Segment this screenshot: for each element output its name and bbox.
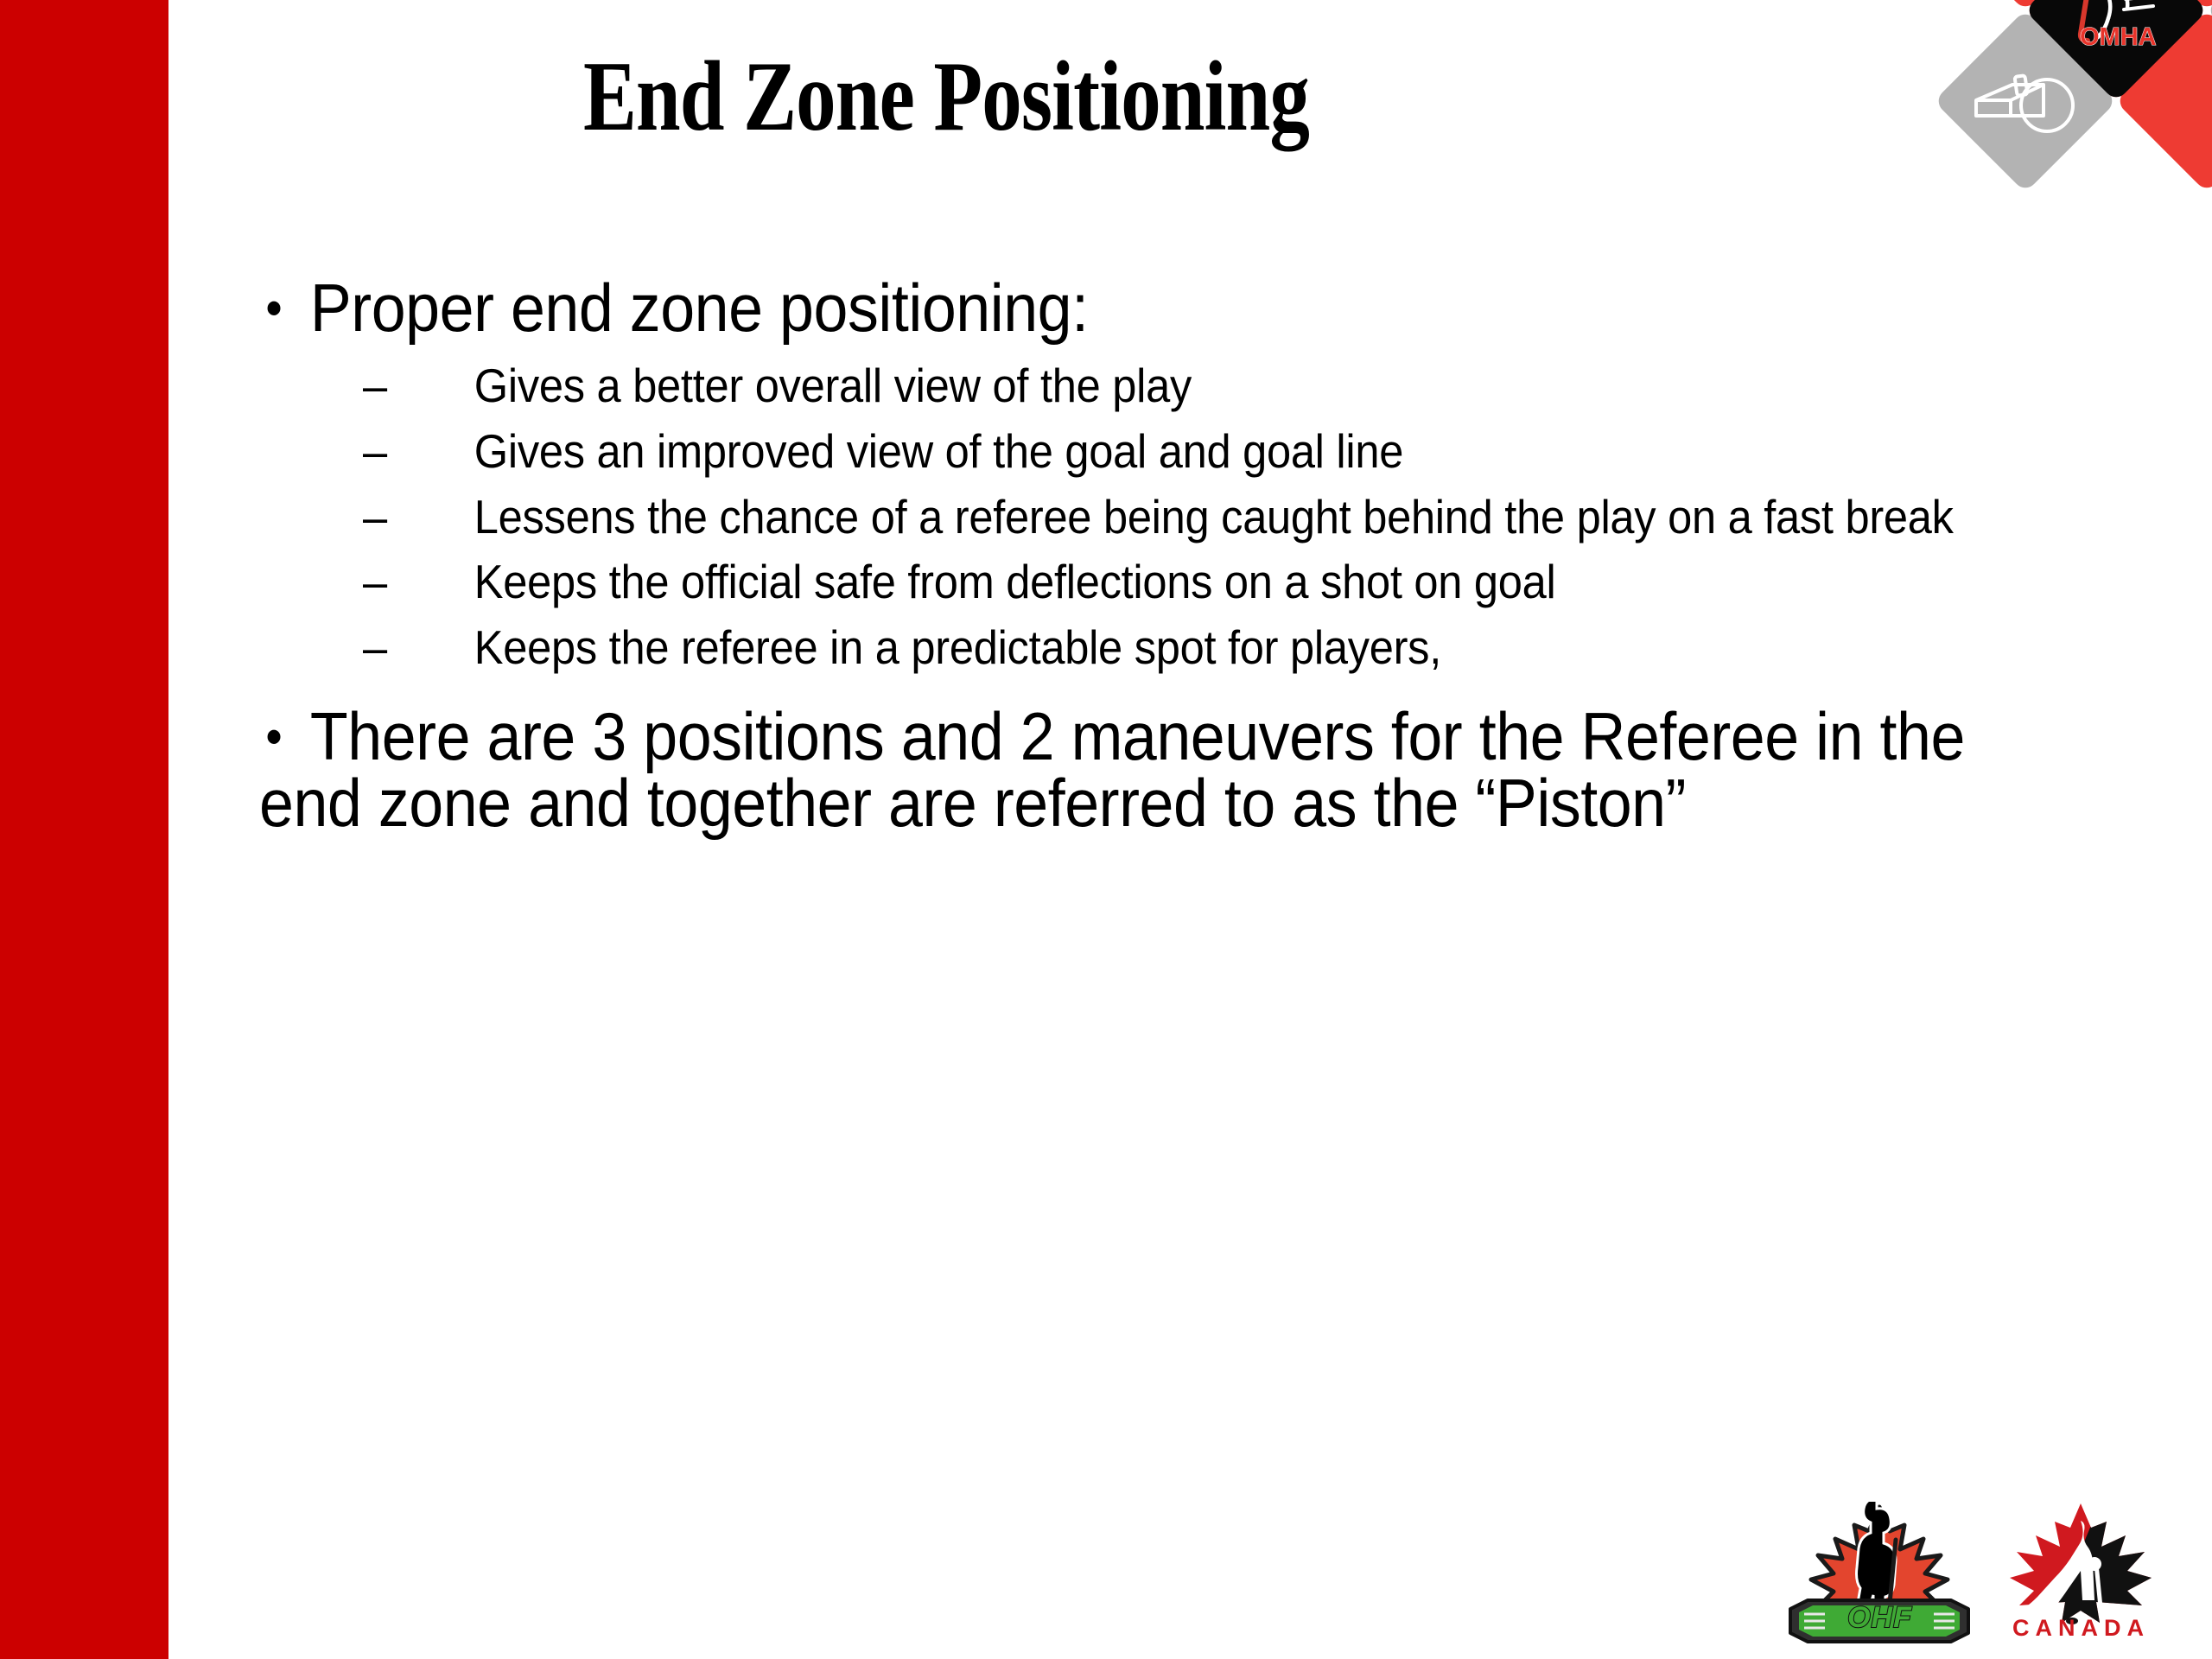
sub-bullet-item: –Gives an improved view of the goal and … bbox=[363, 425, 2017, 479]
sub-bullet-text: Lessens the chance of a referee being ca… bbox=[474, 490, 1954, 543]
sub-bullet-item: –Lessens the chance of a referee being c… bbox=[363, 491, 2017, 544]
sub-bullet-text: Keeps the referee in a predictable spot … bbox=[474, 620, 1441, 674]
slide-canvas: End Zone Positioning •Proper end zone po… bbox=[0, 0, 2212, 1659]
sub-bullet-text: Keeps the official safe from deflections… bbox=[474, 555, 1556, 608]
ohf-logo: OHF bbox=[1787, 1502, 1973, 1657]
omha-wordmark: OMHA bbox=[2080, 23, 2157, 52]
hockey-canada-logo: CANADA bbox=[1984, 1502, 2178, 1657]
sub-bullet-item: –Keeps the official safe from deflection… bbox=[363, 556, 2017, 609]
bullet-marker-icon: • bbox=[265, 283, 310, 334]
bullet-marker-icon: • bbox=[265, 712, 310, 763]
partner-logos: OHF bbox=[1787, 1502, 2193, 1657]
ohf-wordmark: OHF bbox=[1787, 1601, 1973, 1635]
bullet-item: •There are 3 positions and 2 maneuvers f… bbox=[259, 703, 2008, 836]
bullet-text: Proper end zone positioning: bbox=[310, 270, 1089, 346]
sub-bullet-marker-icon: – bbox=[363, 491, 474, 544]
slide-body: •Proper end zone positioning: –Gives a b… bbox=[259, 275, 2160, 836]
sub-bullet-item: –Keeps the referee in a predictable spot… bbox=[363, 621, 2017, 675]
sub-bullet-marker-icon: – bbox=[363, 621, 474, 675]
sub-bullet-marker-icon: – bbox=[363, 425, 474, 479]
sub-bullet-marker-icon: – bbox=[363, 556, 474, 609]
bullet-text: There are 3 positions and 2 maneuvers fo… bbox=[259, 698, 1965, 840]
omha-diamond-logo: OMHA bbox=[1913, 0, 2212, 278]
page-title: End Zone Positioning bbox=[324, 45, 1568, 150]
canada-wordmark: CANADA bbox=[1984, 1615, 2178, 1642]
sub-bullet-item: –Gives a better overall view of the play bbox=[363, 359, 2017, 413]
sub-bullet-text: Gives a better overall view of the play bbox=[474, 359, 1192, 412]
sub-bullet-marker-icon: – bbox=[363, 359, 474, 413]
sub-bullet-text: Gives an improved view of the goal and g… bbox=[474, 424, 1403, 478]
left-accent-bar bbox=[0, 0, 168, 1659]
bullet-item: •Proper end zone positioning: bbox=[259, 275, 2008, 340]
